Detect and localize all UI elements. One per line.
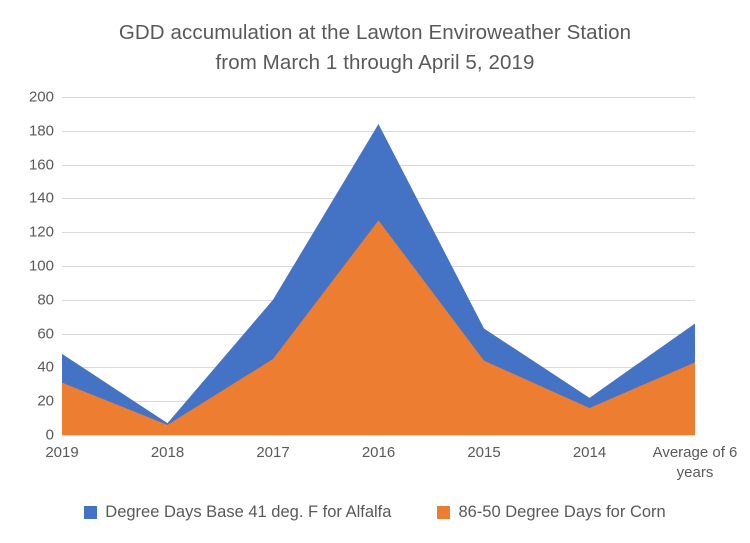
x-axis-tick-label: 2014 xyxy=(535,443,645,463)
y-axis-tick-label: 140 xyxy=(0,190,54,207)
x-axis-tick-label: Average of 6 years xyxy=(640,443,750,483)
legend-swatch-icon xyxy=(84,506,97,519)
chart-title-line-2: from March 1 through April 5, 2019 xyxy=(0,48,750,78)
legend-label: Degree Days Base 41 deg. F for Alfalfa xyxy=(105,503,391,522)
y-axis-tick-label: 100 xyxy=(0,258,54,275)
chart-container: GDD accumulation at the Lawton Envirowea… xyxy=(0,0,750,543)
y-axis-tick-label: 20 xyxy=(0,393,54,410)
x-axis-tick-label: 2018 xyxy=(113,443,223,463)
plot-area xyxy=(62,97,695,435)
y-axis-tick-label: 160 xyxy=(0,156,54,173)
y-axis-tick-label: 60 xyxy=(0,325,54,342)
x-axis-tick-label: 2019 xyxy=(7,443,117,463)
y-axis-tick-label: 200 xyxy=(0,89,54,106)
gridline-0 xyxy=(62,435,695,436)
chart-legend: Degree Days Base 41 deg. F for Alfalfa86… xyxy=(0,503,750,522)
stacked-area-series xyxy=(62,97,695,435)
legend-swatch-icon xyxy=(437,506,450,519)
legend-label: 86-50 Degree Days for Corn xyxy=(458,503,665,522)
y-axis-tick-label: 0 xyxy=(0,427,54,444)
x-axis-tick-label: 2016 xyxy=(324,443,434,463)
chart-title: GDD accumulation at the Lawton Envirowea… xyxy=(0,18,750,78)
y-axis-tick-label: 180 xyxy=(0,122,54,139)
y-axis: 020406080100120140160180200 xyxy=(0,97,54,435)
legend-item[interactable]: 86-50 Degree Days for Corn xyxy=(437,503,665,522)
chart-title-line-1: GDD accumulation at the Lawton Envirowea… xyxy=(0,18,750,48)
legend-item[interactable]: Degree Days Base 41 deg. F for Alfalfa xyxy=(84,503,391,522)
y-axis-tick-label: 120 xyxy=(0,224,54,241)
x-axis-tick-label: 2017 xyxy=(218,443,328,463)
x-axis-tick-label: 2015 xyxy=(429,443,539,463)
y-axis-tick-label: 40 xyxy=(0,359,54,376)
y-axis-tick-label: 80 xyxy=(0,291,54,308)
x-axis: 201920182017201620152014Average of 6 yea… xyxy=(62,443,695,489)
